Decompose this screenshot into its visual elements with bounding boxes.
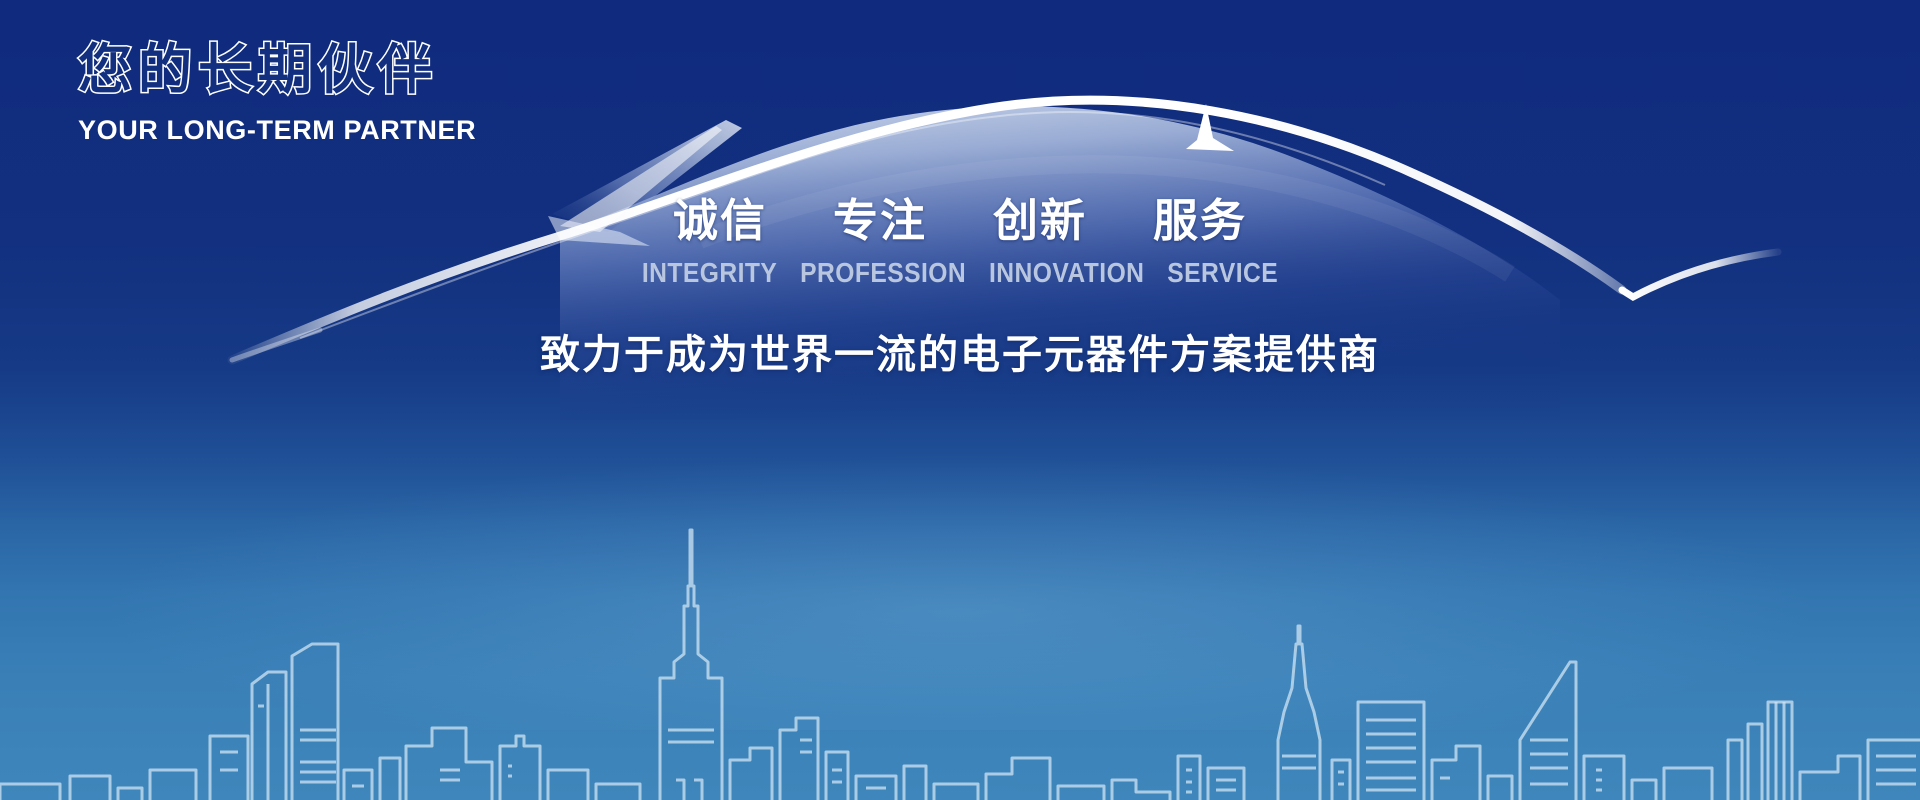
core-values-en-row: INTEGRITY PROFESSION INNOVATION SERVICE [115,257,1805,289]
tagline-cn: 致力于成为世界一流的电子元器件方案提供商 [0,322,1920,380]
core-value-en-3: INNOVATION [989,257,1144,289]
core-values-cn-row: 诚信 专注 创新 服务 [0,196,1920,246]
horizon-glow [0,430,1920,730]
brand-block: 您的长期伙伴 YOUR LONG-TERM PARTNER [78,42,698,146]
core-values-block: 诚信 专注 创新 服务 INTEGRITY PROFESSION INNOVAT… [0,196,1920,289]
core-value-en-2: PROFESSION [800,257,966,289]
core-value-cn-3: 创新 [993,196,1087,246]
city-skyline [0,440,1920,800]
brand-title-en: YOUR LONG-TERM PARTNER [78,115,698,146]
car-antenna-fin [1186,104,1234,151]
hero-banner: 您的长期伙伴 YOUR LONG-TERM PARTNER 诚信 专注 创新 服… [0,0,1920,800]
brand-title-cn: 您的长期伙伴 [78,42,698,99]
core-value-cn-2: 专注 [833,196,927,246]
core-value-cn-4: 服务 [1153,196,1247,246]
core-value-cn-1: 诚信 [673,196,767,246]
core-value-en-4: SERVICE [1167,257,1278,289]
core-value-en-1: INTEGRITY [642,257,777,289]
